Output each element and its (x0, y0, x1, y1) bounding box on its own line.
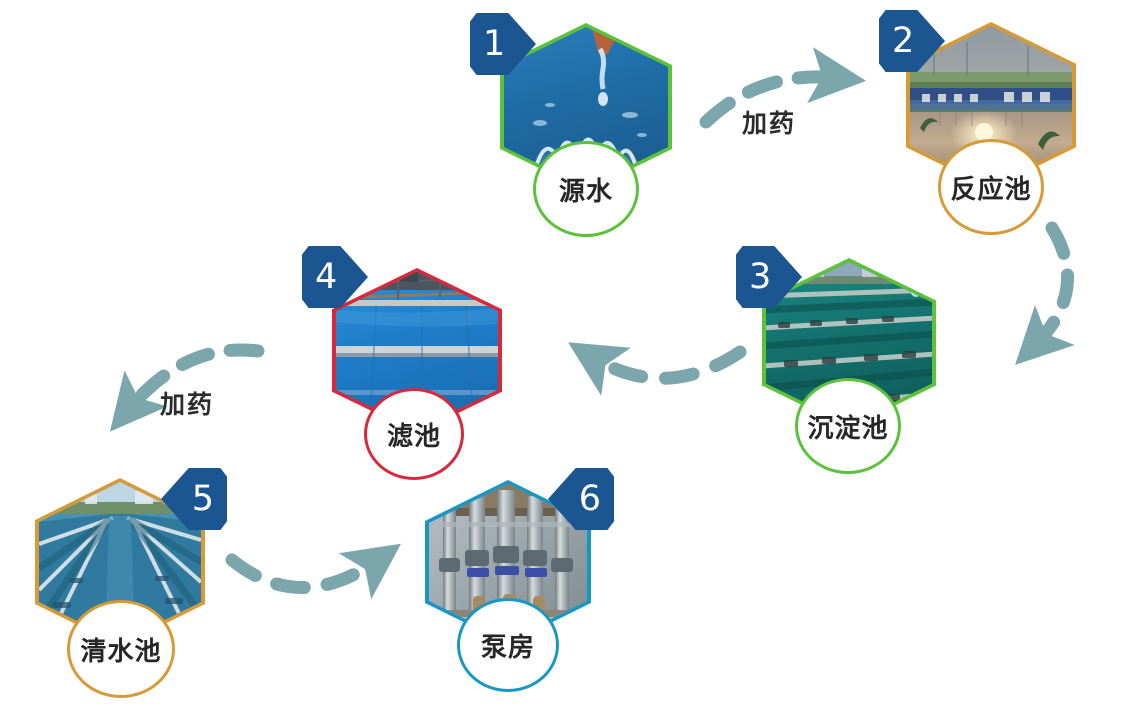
step-label-5: 清水池 (80, 631, 161, 668)
step-label-3: 沉淀池 (807, 408, 888, 445)
process-flow-diagram: 加药 加药 (0, 0, 1130, 714)
connector-3-to-4 (592, 352, 740, 378)
connector-2-to-3 (1035, 228, 1068, 345)
connector-label-dosing-2: 加药 (160, 385, 214, 421)
connector-label-dosing-1: 加药 (742, 104, 796, 140)
step-label-2: 反应池 (950, 169, 1031, 206)
step-caption-1[interactable]: 源水 (533, 141, 639, 237)
step-caption-6[interactable]: 泵房 (457, 598, 559, 692)
process-step-4[interactable]: 4 滤池 (332, 268, 502, 433)
connector-5-to-6 (232, 560, 378, 588)
step-label-1: 源水 (559, 171, 613, 208)
step-caption-3[interactable]: 沉淀池 (795, 378, 901, 474)
process-step-3[interactable]: 3 沉淀池 (762, 258, 936, 428)
step-label-6: 泵房 (481, 627, 535, 664)
step-caption-2[interactable]: 反应池 (938, 139, 1044, 235)
step-caption-4[interactable]: 滤池 (364, 388, 464, 480)
process-step-2[interactable]: 2 反应池 (906, 22, 1076, 189)
process-step-6[interactable]: 6 泵房 (425, 480, 591, 644)
process-step-5[interactable]: 5 清水池 (35, 478, 205, 646)
process-step-1[interactable]: 1 源水 (500, 23, 672, 191)
step-caption-5[interactable]: 清水池 (67, 600, 175, 698)
step-label-4: 滤池 (387, 416, 441, 453)
